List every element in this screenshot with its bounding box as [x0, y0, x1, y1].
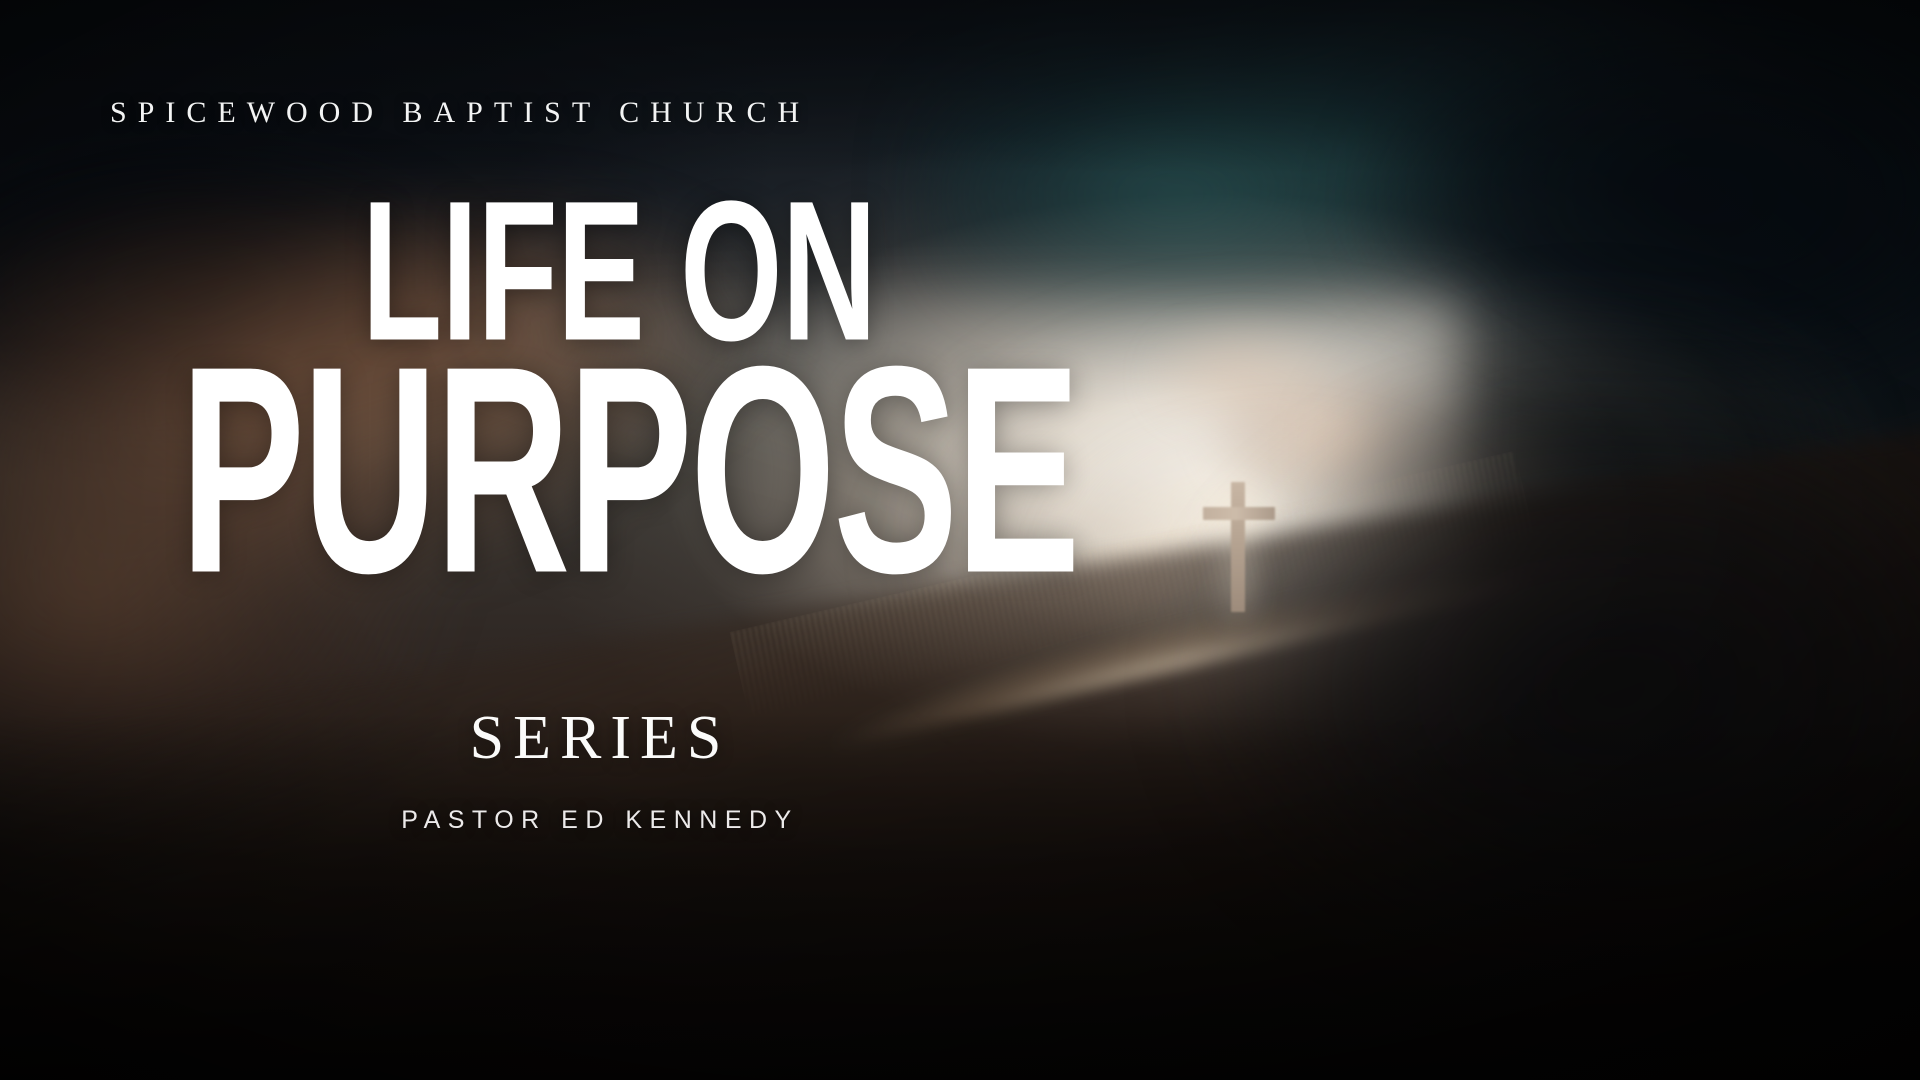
slide-content: SPICEWOOD BAPTIST CHURCH LIFE ON PURPOSE… — [0, 0, 1920, 1080]
speaker-name: PASTOR ED KENNEDY — [0, 806, 1200, 835]
title-line-2: PURPOSE — [180, 346, 1020, 594]
series-label: SERIES — [0, 703, 1200, 774]
church-name: SPICEWOOD BAPTIST CHURCH — [110, 96, 810, 130]
sermon-title-slide: SPICEWOOD BAPTIST CHURCH LIFE ON PURPOSE… — [0, 0, 1920, 1080]
series-title: LIFE ON PURPOSE — [0, 185, 1200, 571]
